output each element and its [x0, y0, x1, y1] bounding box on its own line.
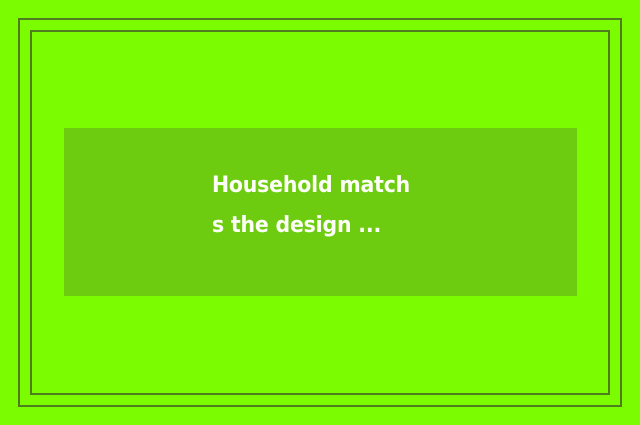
- panel-text-line-1: Household match: [212, 166, 547, 206]
- panel-text-line-2: s the design ...: [212, 206, 547, 246]
- panel-text-block: Household match s the design ...: [212, 166, 572, 246]
- content-panel: Household match s the design ...: [64, 128, 577, 296]
- screen-root: Household match s the design ...: [0, 0, 640, 425]
